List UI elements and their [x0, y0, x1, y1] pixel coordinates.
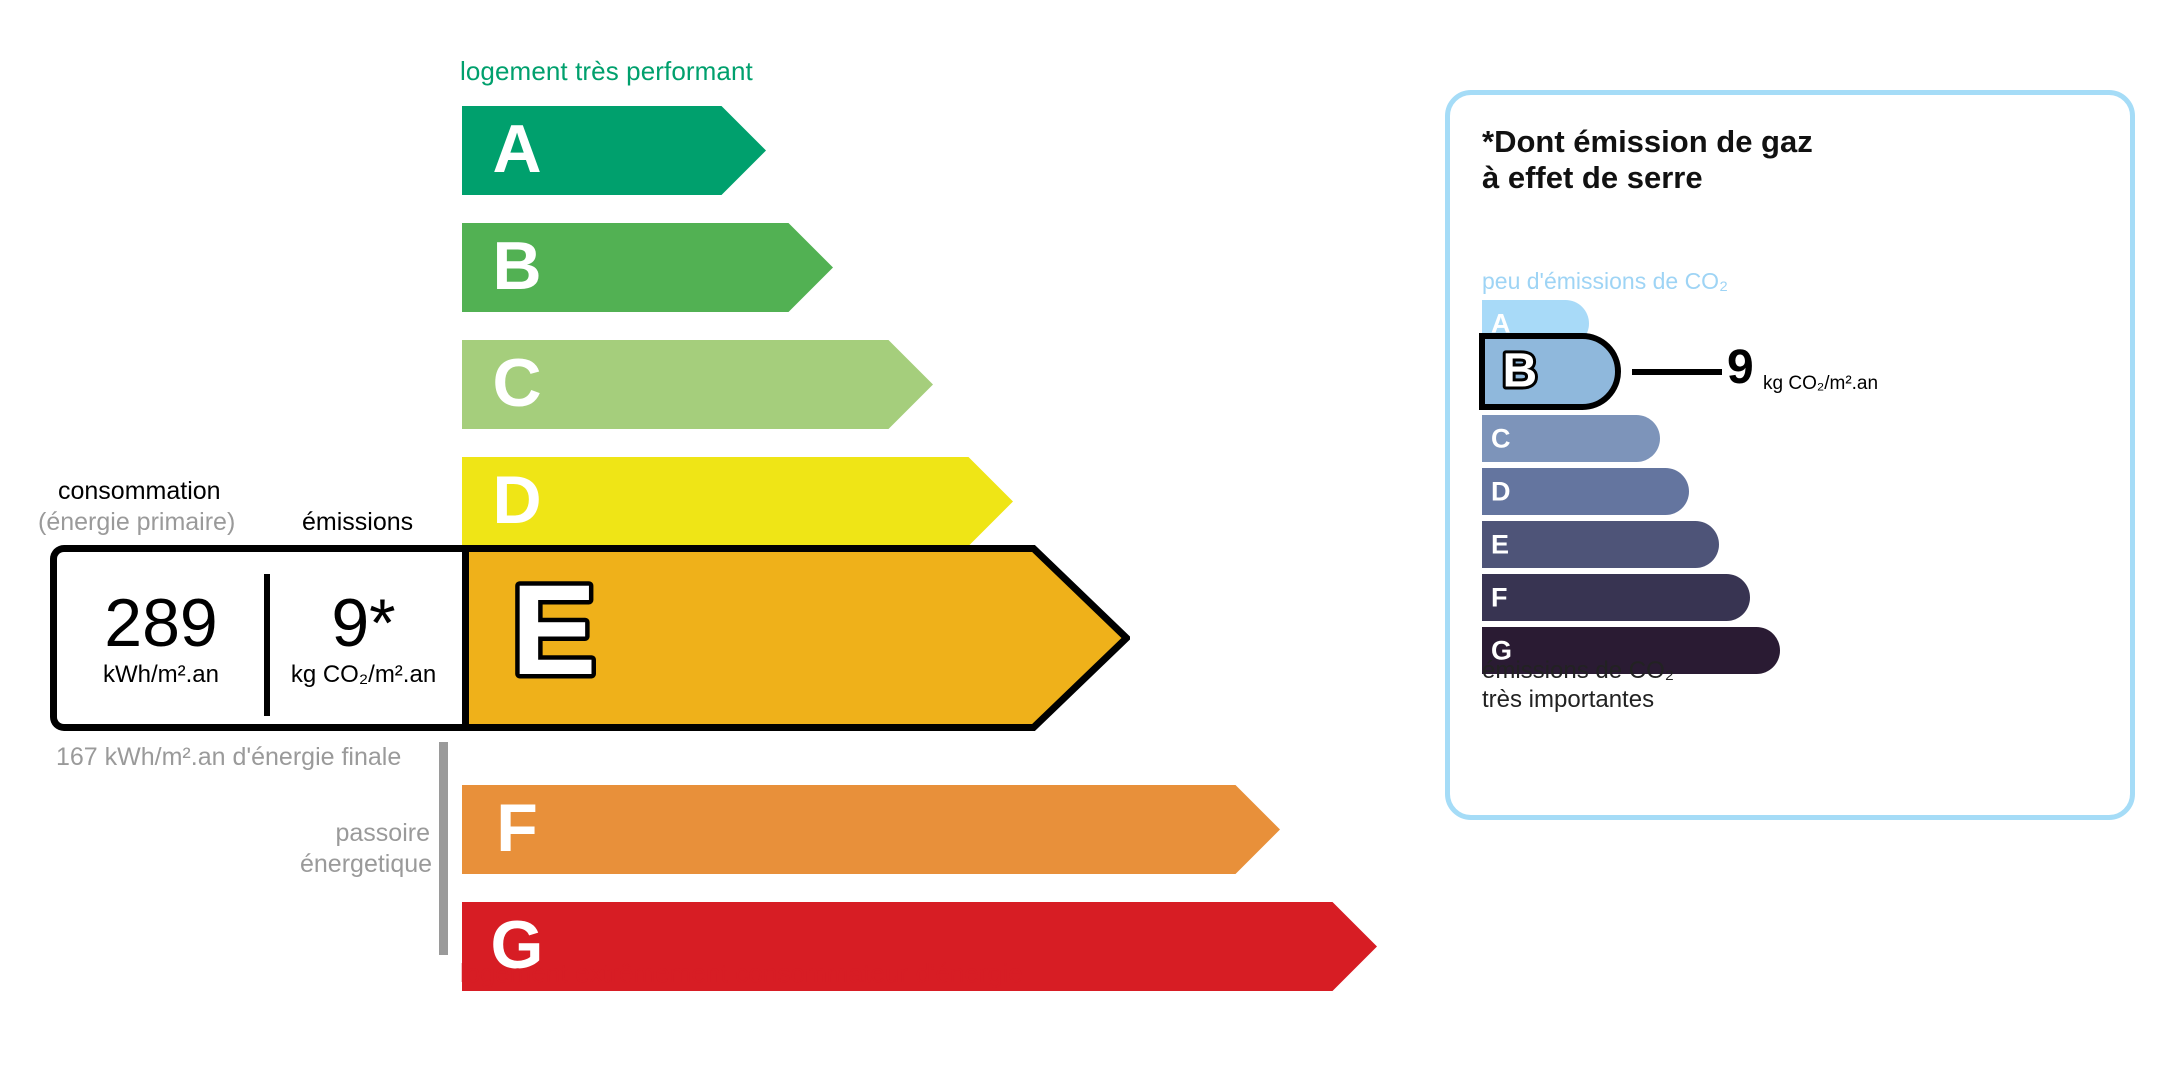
emission-value-group: 9* kg CO₂/m².an [265, 552, 462, 724]
energy-class-rows: ABCDFG [0, 0, 1300, 1079]
co2-value: 9 [1727, 344, 1754, 392]
emission-unit: kg CO₂/m².an [291, 663, 436, 687]
energy-class-row-f: F [462, 785, 1280, 874]
co2-bottom-caption: émissions de CO₂ très importantes [1482, 657, 1674, 715]
energy-class-row-a: A [462, 106, 766, 195]
energy-performance-diagram: logement très performant ABCDFG 289 kWh/… [0, 0, 1300, 1079]
co2-class-bar-f [1482, 574, 1750, 621]
co2-class-row-f: F [1482, 574, 1750, 621]
co2-class-row-e: E [1482, 521, 1719, 568]
energy-class-bar-f [462, 785, 1280, 874]
consumption-unit: kWh/m².an [103, 663, 219, 687]
current-co2-class-bar: B [1479, 333, 1621, 410]
current-energy-class-letter: E [493, 564, 615, 712]
energy-class-row-d: D [462, 457, 1013, 546]
co2-class-bar-e [1482, 521, 1719, 568]
co2-class-row-c: C [1482, 415, 1660, 462]
co2-value-unit: kg CO₂/m².an [1763, 373, 1878, 395]
co2-class-letter-f: F [1491, 584, 1508, 611]
co2-emissions-panel: *Dont émission de gaz à effet de serre p… [1445, 90, 2135, 820]
energy-class-bar-d [462, 457, 1013, 546]
co2-class-letter-e: E [1491, 531, 1509, 558]
co2-connector-line [1632, 369, 1722, 375]
co2-class-letter-d: D [1491, 478, 1511, 505]
passoire-divider-rule [439, 742, 448, 955]
svg-text:E: E [511, 564, 596, 702]
energy-class-bar-c [462, 340, 933, 429]
current-energy-class-group: 289 kWh/m².an 9* kg CO₂/m².an E [50, 545, 1185, 731]
label-emissions: émissions [302, 508, 413, 537]
consumption-value: 289 [104, 589, 217, 657]
energy-class-bar-a [462, 106, 766, 195]
label-energie-primaire: (énergie primaire) [38, 508, 235, 537]
label-passoire-energetique: passoire énergetique [300, 818, 430, 879]
consumption-box: 289 kWh/m².an 9* kg CO₂/m².an [50, 545, 462, 731]
energy-class-row-c: C [462, 340, 933, 429]
energy-class-bar-b [462, 223, 833, 312]
primary-energy-value-group: 289 kWh/m².an [57, 552, 265, 724]
emission-value: 9* [331, 589, 395, 657]
energy-class-row-b: B [462, 223, 833, 312]
svg-text:B: B [1502, 345, 1537, 397]
co2-class-letter-c: C [1491, 425, 1511, 452]
energy-bottom-caption: logement extrêmement consommateur d'éner… [460, 958, 1023, 989]
current-co2-class-letter: B [1497, 345, 1543, 399]
co2-class-row-d: D [1482, 468, 1689, 515]
label-consommation: consommation [58, 477, 221, 506]
co2-class-bar-d [1482, 468, 1689, 515]
label-energie-finale: 167 kWh/m².an d'énergie finale [56, 742, 401, 773]
